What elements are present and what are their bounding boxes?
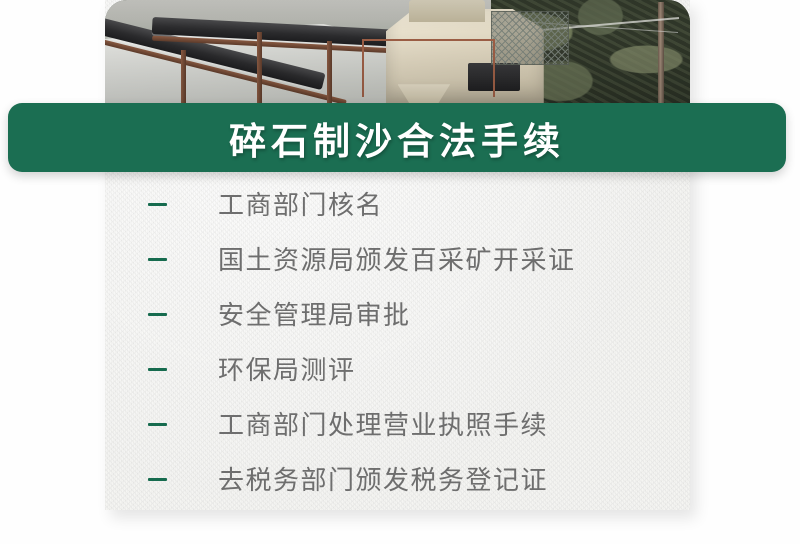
dash-bullet-icon [148,423,167,426]
list-item: 安全管理局审批 [105,286,690,341]
list-item: 环保局测评 [105,341,690,396]
dash-bullet-icon [148,203,167,206]
list-item-label: 国土资源局颁发百采矿开采证 [218,240,576,277]
poster-root: 碎石制沙合法手续 工商部门核名 国土资源局颁发百采矿开采证 安全管理局审批 环保… [0,0,800,544]
list-item-label: 环保局测评 [218,350,356,387]
list-item-label: 去税务部门颁发税务登记证 [218,460,548,497]
dash-bullet-icon [148,368,167,371]
list-item-label: 工商部门处理营业执照手续 [218,405,548,442]
list-item: 国土资源局颁发百采矿开采证 [105,231,690,286]
list-item-label: 安全管理局审批 [218,295,411,332]
dash-bullet-icon [148,258,167,261]
list-item-label: 工商部门核名 [218,185,383,222]
page-title: 碎石制沙合法手续 [229,111,565,165]
list-item: 去税务部门颁发税务登记证 [105,451,690,506]
title-banner: 碎石制沙合法手续 [8,103,786,172]
list-item: 工商部门处理营业执照手续 [105,396,690,451]
quarry-photo [105,0,690,108]
procedure-list: 工商部门核名 国土资源局颁发百采矿开采证 安全管理局审批 环保局测评 工商部门处… [105,176,690,506]
dash-bullet-icon [148,313,167,316]
dash-bullet-icon [148,478,167,481]
list-item: 工商部门核名 [105,176,690,231]
photo-vignette [105,0,690,108]
